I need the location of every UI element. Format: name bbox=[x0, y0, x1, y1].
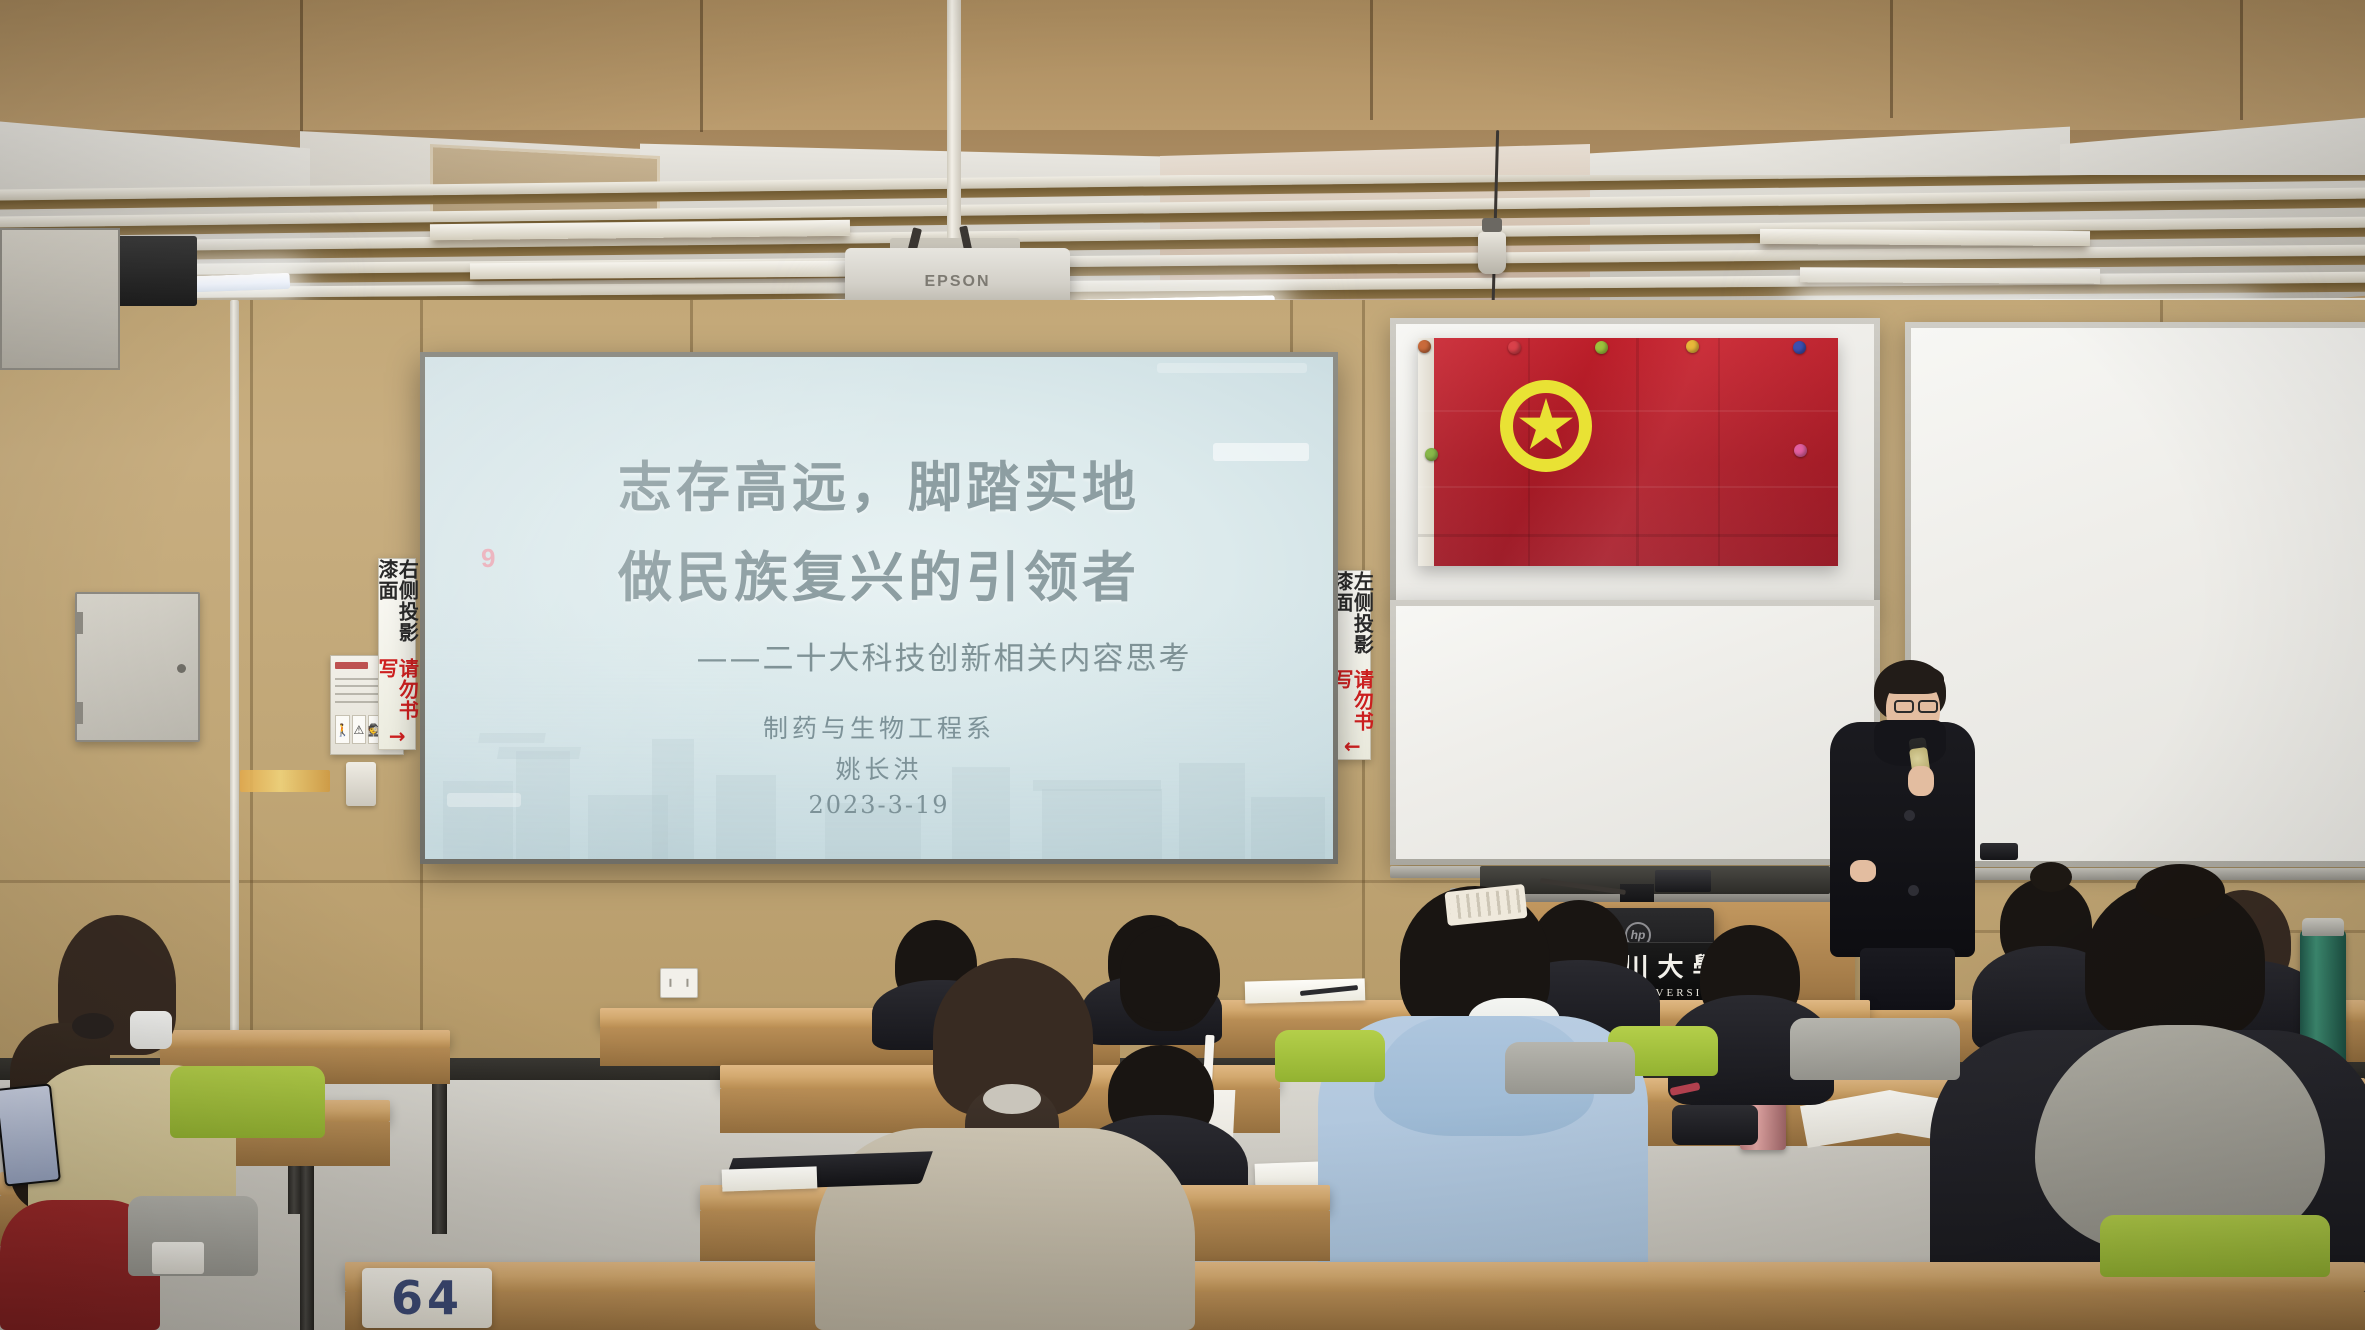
desktop-pc-tower bbox=[1655, 870, 1711, 892]
phone-screen[interactable] bbox=[0, 1086, 59, 1185]
desk-row-front-front bbox=[345, 1292, 2365, 1330]
desk-leg bbox=[432, 1084, 447, 1234]
slide-toolbar-chip bbox=[1157, 363, 1307, 373]
slide-title-line-2: 做民族复兴的引领者 bbox=[425, 533, 1333, 612]
chair-green[interactable] bbox=[1275, 1030, 1385, 1082]
desk-leg bbox=[300, 1166, 314, 1330]
slide-presenter: 姚长洪 bbox=[425, 750, 1333, 786]
projector: EPSON bbox=[845, 248, 1070, 308]
chair-gray[interactable] bbox=[1505, 1042, 1635, 1094]
coat-button bbox=[1908, 885, 1919, 896]
wall-seam bbox=[250, 300, 253, 1060]
magnet[interactable] bbox=[1508, 341, 1521, 354]
projector-mount-pole bbox=[947, 0, 961, 250]
smartphone[interactable] bbox=[0, 1083, 61, 1186]
presenter-fringe bbox=[1878, 664, 1944, 694]
magnet[interactable] bbox=[1793, 341, 1806, 354]
projection-screen-frame: 9 志存高远，脚踏实地 做民族复兴的引领者 ——二十大科技创新相关内容思考 制药… bbox=[420, 352, 1338, 864]
ceiling-seam bbox=[700, 0, 703, 132]
hair-scrunchie bbox=[983, 1084, 1041, 1114]
presenter-glasses bbox=[1918, 700, 1938, 713]
desk-number-plate: 64 bbox=[362, 1268, 492, 1328]
slide-date: 2023-3-19 bbox=[425, 791, 1333, 819]
desk-row-front bbox=[345, 1262, 2365, 1292]
ceiling-mic-clip bbox=[1482, 218, 1502, 232]
wall-mounted-sensor bbox=[346, 762, 376, 806]
pictogram-cell: 🚶 bbox=[335, 715, 349, 744]
power-outlet bbox=[660, 968, 698, 998]
papers-on-desk[interactable] bbox=[722, 1166, 818, 1191]
magnet[interactable] bbox=[1425, 448, 1438, 461]
wall-speaker-bracket bbox=[0, 228, 120, 370]
league-emblem bbox=[1500, 380, 1592, 472]
magnet[interactable] bbox=[1794, 444, 1807, 457]
slide-subtitle: ——二十大科技创新相关内容思考 bbox=[425, 633, 1333, 678]
ceiling-seam bbox=[1890, 0, 1893, 118]
electrical-panel bbox=[75, 592, 200, 742]
whiteboard-upper-left bbox=[1390, 318, 1880, 608]
sign-red-text: 请勿书写 bbox=[377, 658, 418, 724]
tissue-box[interactable] bbox=[152, 1242, 204, 1274]
ceiling-fin bbox=[1760, 229, 2090, 246]
pencil-case[interactable] bbox=[1672, 1105, 1758, 1145]
magnet[interactable] bbox=[1595, 341, 1608, 354]
ceiling-fin bbox=[1800, 267, 2100, 284]
magnet[interactable] bbox=[1686, 340, 1699, 353]
wall-speaker bbox=[112, 236, 197, 306]
whiteboard-surface[interactable] bbox=[1396, 606, 1874, 859]
wall-colour-swatch bbox=[240, 770, 330, 792]
student-head bbox=[1120, 925, 1220, 1023]
ceiling-wood-band bbox=[0, 0, 2365, 130]
sign-black-text: 右侧投影漆面 bbox=[377, 559, 418, 658]
hair-scrunchie bbox=[72, 1013, 114, 1039]
whiteboard-surface bbox=[1396, 324, 1874, 602]
chair-gray[interactable] bbox=[1790, 1018, 1960, 1080]
chair-green[interactable] bbox=[2100, 1215, 2330, 1277]
ceiling-seam bbox=[300, 0, 303, 132]
student-ponytail bbox=[2135, 864, 2225, 920]
ceiling-mic bbox=[1478, 232, 1506, 274]
sign-left-projection-surface: 左侧投影漆面请勿书写← bbox=[1333, 570, 1371, 760]
ceiling-seam bbox=[1370, 0, 1373, 120]
classroom-photo: EPSON 🚶 ⚠ 🕵 ↑ 右侧投影漆面请 bbox=[0, 0, 2365, 1330]
poster-heading-bar bbox=[335, 662, 368, 669]
presenter-hand bbox=[1908, 766, 1934, 796]
communist-youth-league-flag bbox=[1418, 338, 1838, 566]
sign-arrow: ← bbox=[1342, 734, 1362, 759]
sign-arrow: → bbox=[387, 724, 407, 749]
slide-department: 制药与生物工程系 bbox=[425, 709, 1333, 745]
whiteboard-lower-left[interactable] bbox=[1390, 600, 1880, 865]
ceiling-seam bbox=[2240, 0, 2243, 120]
face-mask bbox=[130, 1011, 172, 1049]
projection-screen: 9 志存高远，脚踏实地 做民族复兴的引领者 ——二十大科技创新相关内容思考 制药… bbox=[425, 357, 1333, 859]
sign-right-projection-surface: 右侧投影漆面请勿书写→ bbox=[378, 558, 416, 750]
coat-button bbox=[1904, 810, 1915, 821]
presenter-hand bbox=[1850, 860, 1876, 882]
chair-green[interactable] bbox=[170, 1066, 325, 1138]
ceiling-fin bbox=[470, 261, 850, 280]
slide-title-line-1: 志存高远，脚踏实地 bbox=[425, 443, 1333, 522]
magnet[interactable] bbox=[1418, 340, 1431, 353]
presenter-remote-clicker[interactable] bbox=[1980, 843, 2018, 860]
projector-brand-label: EPSON bbox=[845, 273, 1070, 291]
presenter-glasses bbox=[1894, 700, 1914, 713]
pictogram-cell: ⚠ bbox=[352, 715, 366, 744]
